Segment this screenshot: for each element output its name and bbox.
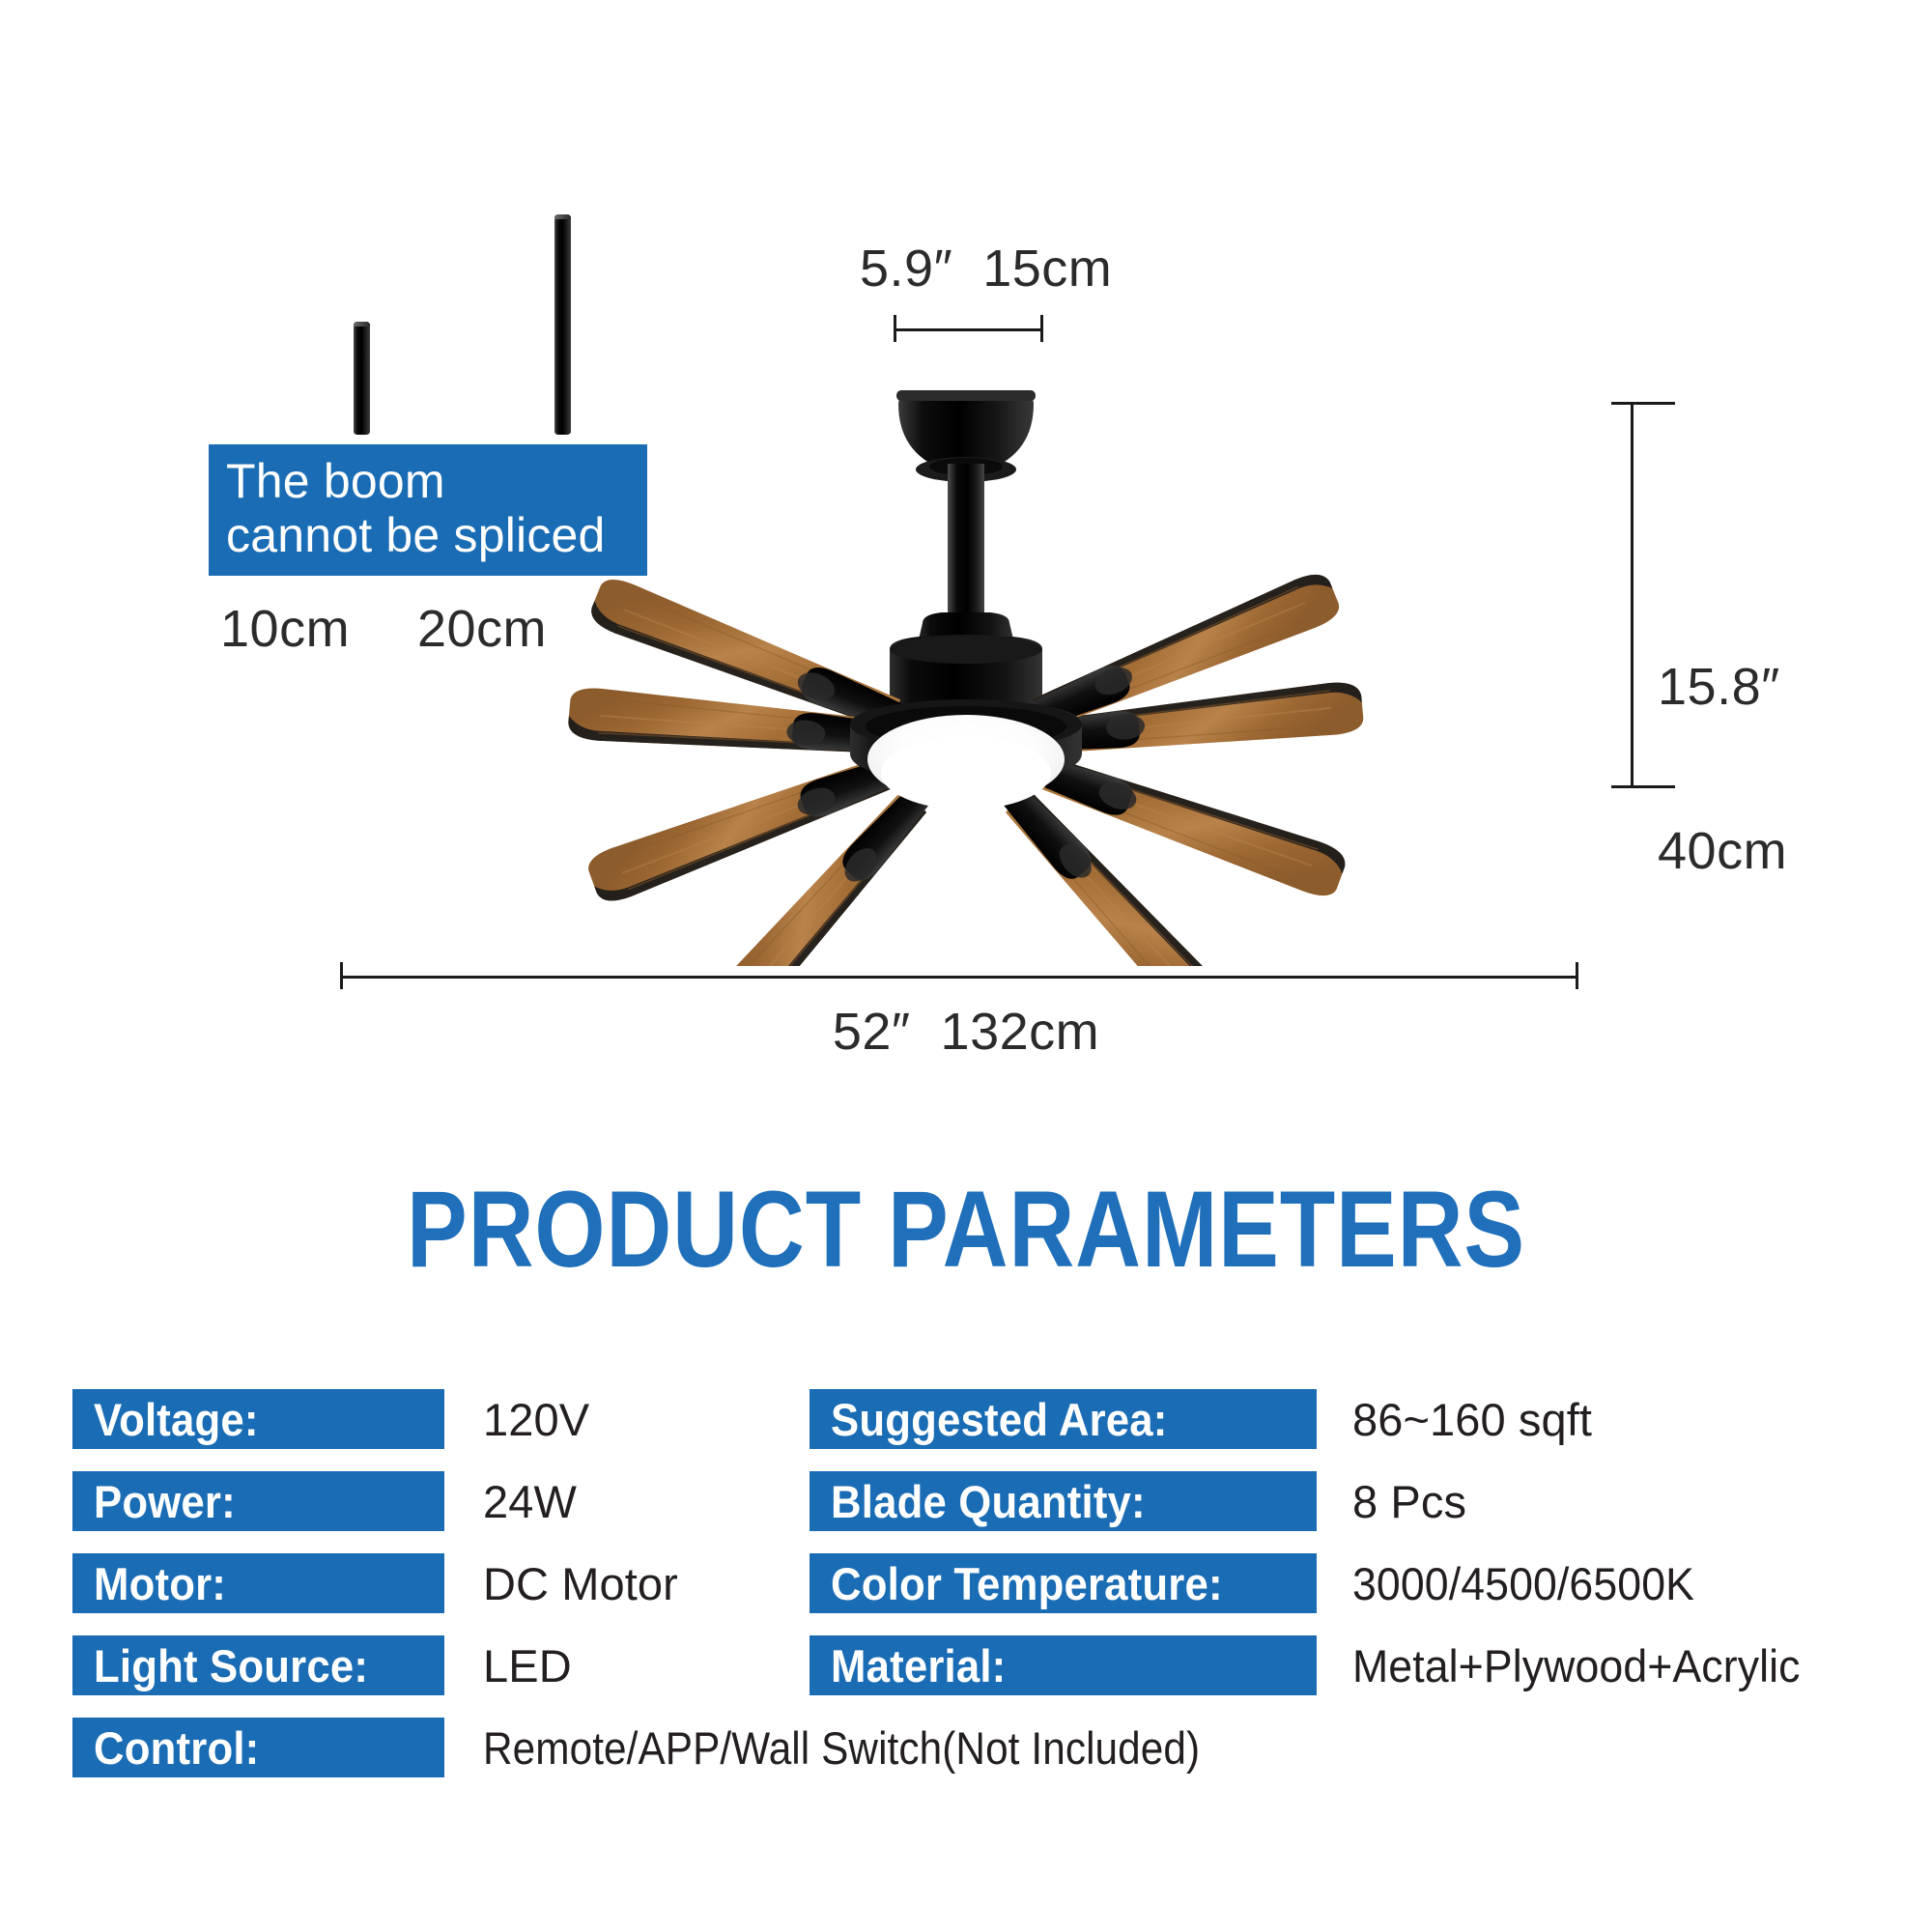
spec-label-blade-quantity: Blade Quantity: bbox=[810, 1471, 1317, 1531]
spec-value-control: Remote/APP/Wall Switch(Not Included) bbox=[483, 1718, 1280, 1777]
spec-value-material: Metal+Plywood+Acrylic bbox=[1352, 1635, 1824, 1695]
spec-label-material: Material: bbox=[810, 1635, 1317, 1695]
downrod bbox=[948, 464, 984, 623]
product-spec-sheet: 3.9″ 10cm 7.8″ 20cm The boom cannot be s… bbox=[0, 0, 1932, 1932]
blade-span-tick-left bbox=[340, 962, 343, 989]
blade-span-tick-right bbox=[1576, 962, 1578, 989]
page-title: PRODUCT PARAMETERS bbox=[155, 1167, 1777, 1292]
spec-value-blade-quantity: 8 Pcs bbox=[1352, 1471, 1466, 1531]
spec-label-power: Power: bbox=[72, 1471, 444, 1531]
spec-label-suggested-area: Suggested Area: bbox=[810, 1389, 1317, 1449]
spec-value-color-temperature: 3000/4500/6500K bbox=[1352, 1553, 1713, 1613]
spec-value-voltage: 120V bbox=[483, 1389, 589, 1449]
spec-value-power: 24W bbox=[483, 1471, 577, 1531]
spec-label-control: Control: bbox=[72, 1718, 444, 1777]
spec-value-suggested-area: 86~160 sqft bbox=[1352, 1389, 1592, 1449]
spec-label-voltage: Voltage: bbox=[72, 1389, 444, 1449]
ceiling-fan-illustration bbox=[0, 290, 1932, 966]
blade-span-dimension-line bbox=[340, 976, 1578, 979]
spec-value-light-source: LED bbox=[483, 1635, 572, 1695]
spec-label-motor: Motor: bbox=[72, 1553, 444, 1613]
spec-label-light-source: Light Source: bbox=[72, 1635, 444, 1695]
spec-label-color-temperature: Color Temperature: bbox=[810, 1553, 1317, 1613]
led-light bbox=[867, 715, 1065, 810]
blade-span-label: 52″ 132cm bbox=[0, 1005, 1932, 1060]
spec-value-motor: DC Motor bbox=[483, 1553, 678, 1613]
canopy-width-label: 5.9″ 15cm bbox=[860, 241, 1112, 297]
